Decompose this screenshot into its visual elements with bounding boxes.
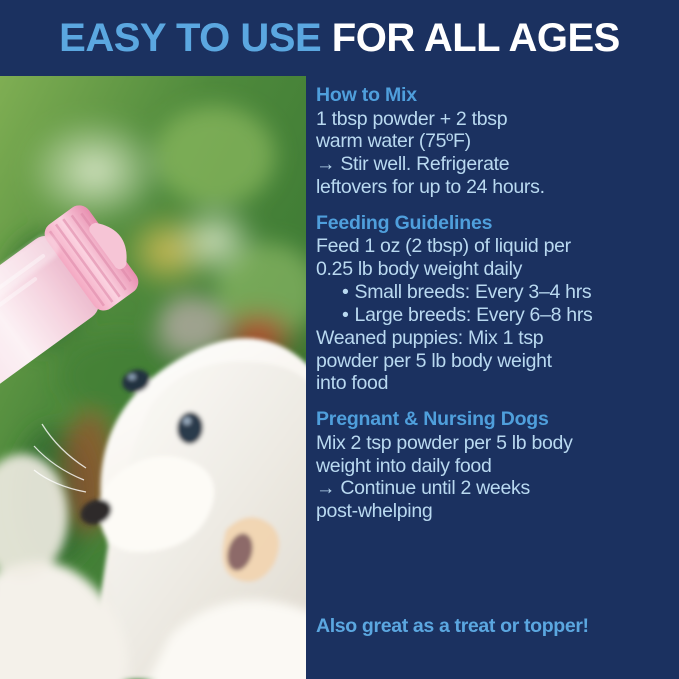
section-line: warm water (75ºF) — [316, 130, 674, 153]
title-accent-text: EASY TO USE — [59, 16, 321, 60]
page-title: EASY TO USE FOR ALL AGES — [59, 18, 620, 58]
bullet-item: •Small breeds: Every 3–4 hrs — [316, 281, 674, 304]
section-line: 1 tbsp powder + 2 tbsp — [316, 108, 674, 131]
section-line: into food — [316, 372, 674, 395]
footer-tagline: Also great as a treat or topper! — [316, 615, 589, 638]
bullet-dot-icon: • — [342, 281, 349, 303]
bullet-dot-icon: • — [342, 304, 349, 326]
puppy-bottle-photo — [0, 76, 306, 679]
header-banner: EASY TO USE FOR ALL AGES — [0, 0, 679, 76]
section-heading: How to Mix — [316, 84, 674, 107]
section-line: leftovers for up to 24 hours. — [316, 176, 674, 199]
section-line: weight into daily food — [316, 455, 674, 478]
poster: EASY TO USE FOR ALL AGES — [0, 0, 679, 679]
instructions-column: How to Mix 1 tbsp powder + 2 tbsp warm w… — [316, 84, 674, 679]
section-line: Weaned puppies: Mix 1 tsp — [316, 327, 674, 350]
photo-illustration — [0, 76, 306, 679]
section-line: 0.25 lb body weight daily — [316, 258, 674, 281]
bullet-text: Large breeds: Every 6–8 hrs — [355, 304, 593, 326]
title-plain-text: FOR ALL AGES — [332, 16, 620, 60]
section-pregnant-nursing-dogs: Pregnant & Nursing Dogs Mix 2 tsp powder… — [316, 408, 674, 523]
section-line: → Stir well. Refrigerate — [316, 153, 674, 176]
section-line: powder per 5 lb body weight — [316, 350, 674, 373]
section-feeding-guidelines: Feeding Guidelines Feed 1 oz (2 tbsp) of… — [316, 212, 674, 395]
section-how-to-mix: How to Mix 1 tbsp powder + 2 tbsp warm w… — [316, 84, 674, 199]
bullet-item: •Large breeds: Every 6–8 hrs — [316, 304, 674, 327]
section-line: Feed 1 oz (2 tbsp) of liquid per — [316, 235, 674, 258]
section-line: post-whelping — [316, 500, 674, 523]
bullet-text: Small breeds: Every 3–4 hrs — [355, 281, 592, 303]
section-line: Mix 2 tsp powder per 5 lb body — [316, 432, 674, 455]
section-heading: Pregnant & Nursing Dogs — [316, 408, 674, 431]
section-heading: Feeding Guidelines — [316, 212, 674, 235]
section-line: → Continue until 2 weeks — [316, 477, 674, 500]
